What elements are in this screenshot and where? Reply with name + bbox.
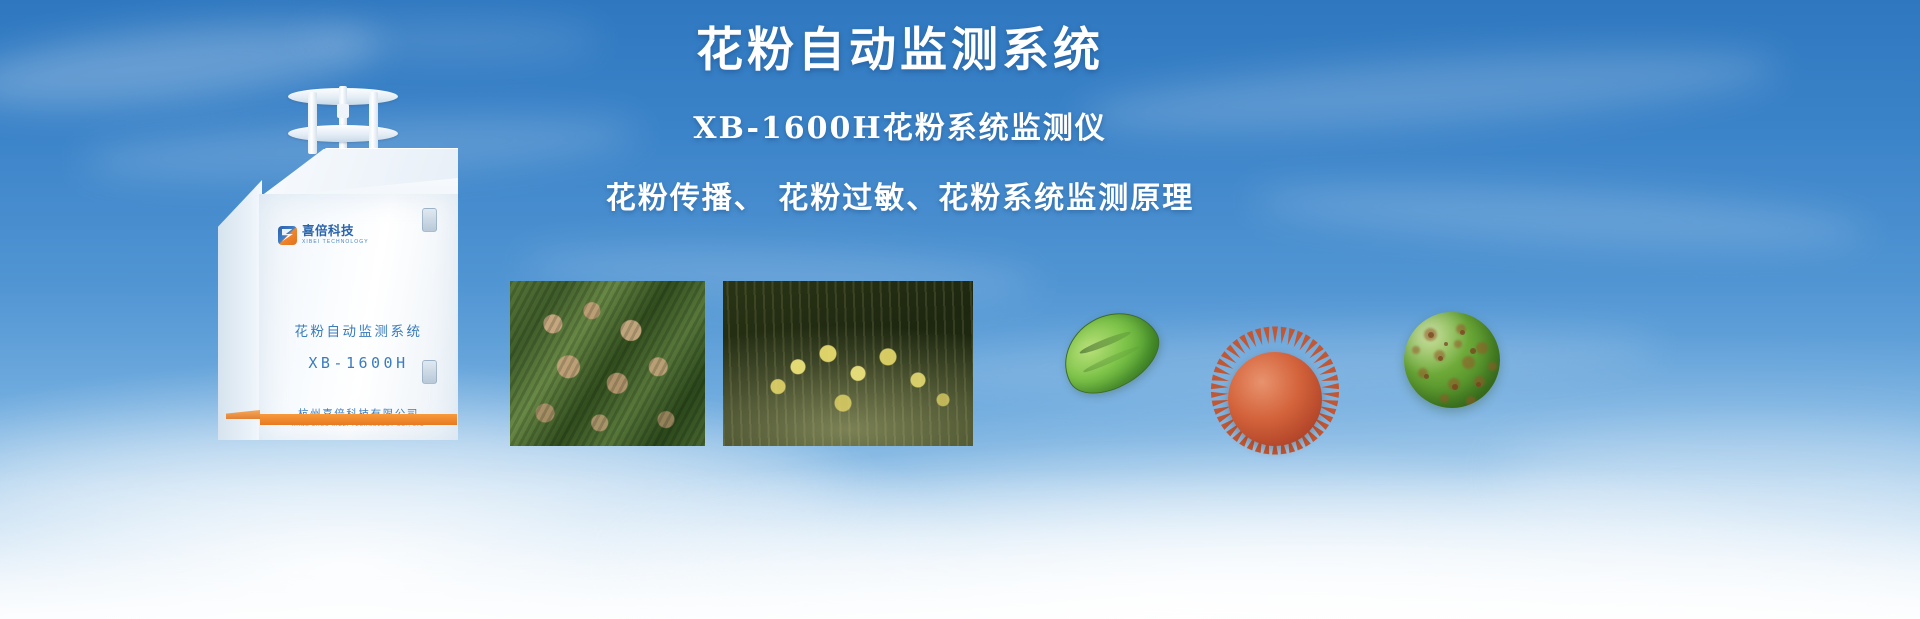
pollen-wart [1454, 340, 1462, 348]
banner-subtitle-model: XB-1600H花粉系统监测仪 [560, 103, 1240, 147]
pollen-monitoring-banner: 花粉自动监测系统 XB-1600H花粉系统监测仪 花粉传播、 花粉过敏、花粉系统… [0, 0, 1920, 619]
xibei-logo-icon [278, 226, 297, 245]
pollen-wart [1476, 342, 1488, 354]
pollen-wart [1452, 384, 1458, 390]
pollen-monitor-device: 喜倍科技 XIBEI TECHNOLOGY 花粉自动监测系统 XB-1600H … [200, 80, 490, 440]
cloud-wisp [300, 20, 600, 60]
pollen-spike [1211, 383, 1228, 390]
red-spiky-pollen-grain-icon [1212, 336, 1338, 462]
device-cabinet: 喜倍科技 XIBEI TECHNOLOGY 花粉自动监测系统 XB-1600H … [218, 148, 458, 440]
sensor-post [369, 92, 378, 154]
pollen-wart [1476, 382, 1481, 387]
cloud-wisp [1249, 174, 1871, 258]
pollen-spike [1272, 327, 1278, 344]
horizon-haze [0, 469, 1920, 619]
cabinet-accent-bar [260, 414, 457, 425]
cloud-wisp [1500, 430, 1920, 520]
brand-name-en: XIBEI TECHNOLOGY [302, 240, 369, 245]
sensor-post [308, 92, 317, 154]
pollen-wart [1462, 356, 1475, 369]
pollen-wart [1428, 332, 1434, 338]
pollen-wart [1444, 342, 1448, 346]
pollen-wart [1424, 374, 1429, 379]
banner-headings: 花粉自动监测系统 XB-1600H花粉系统监测仪 花粉传播、 花粉过敏、花粉系统… [560, 22, 1240, 217]
page-title: 花粉自动监测系统 [560, 22, 1240, 81]
cloud-wisp [620, 500, 1920, 619]
catkin-pollen-photo [723, 281, 973, 446]
device-product-name: 花粉自动监测系统 [259, 320, 458, 340]
pollen-spike [1263, 327, 1271, 345]
pollen-wart [1460, 330, 1465, 335]
banner-subtitle-topics: 花粉传播、 花粉过敏、花粉系统监测原理 [560, 173, 1240, 217]
brand-logo: 喜倍科技 XIBEI TECHNOLOGY [278, 225, 369, 245]
sensor-disc [288, 125, 398, 142]
cloud-wisp [0, 430, 840, 540]
cabinet-latch-icon[interactable] [422, 208, 437, 232]
pollen-core [1228, 352, 1322, 446]
green-smooth-pollen-grain-icon [1049, 296, 1172, 408]
pollen-spike [1322, 383, 1339, 390]
cypress-pollen-cones-photo [510, 281, 705, 446]
pollen-spike [1211, 391, 1228, 398]
pollen-wart [1440, 394, 1449, 403]
cabinet-side-face [218, 180, 262, 440]
green-warty-pollen-grain-icon [1404, 312, 1500, 408]
sensor-post [339, 86, 347, 156]
device-model-label: XB-1600H [259, 354, 458, 372]
pollen-wart [1466, 396, 1476, 406]
sensor-nub [337, 104, 349, 118]
pollen-wart [1438, 356, 1443, 361]
pollen-wart [1412, 346, 1420, 354]
pollen-wart [1488, 362, 1497, 371]
brand-name-cn: 喜倍科技 [302, 225, 369, 238]
pollen-wart [1470, 348, 1476, 354]
